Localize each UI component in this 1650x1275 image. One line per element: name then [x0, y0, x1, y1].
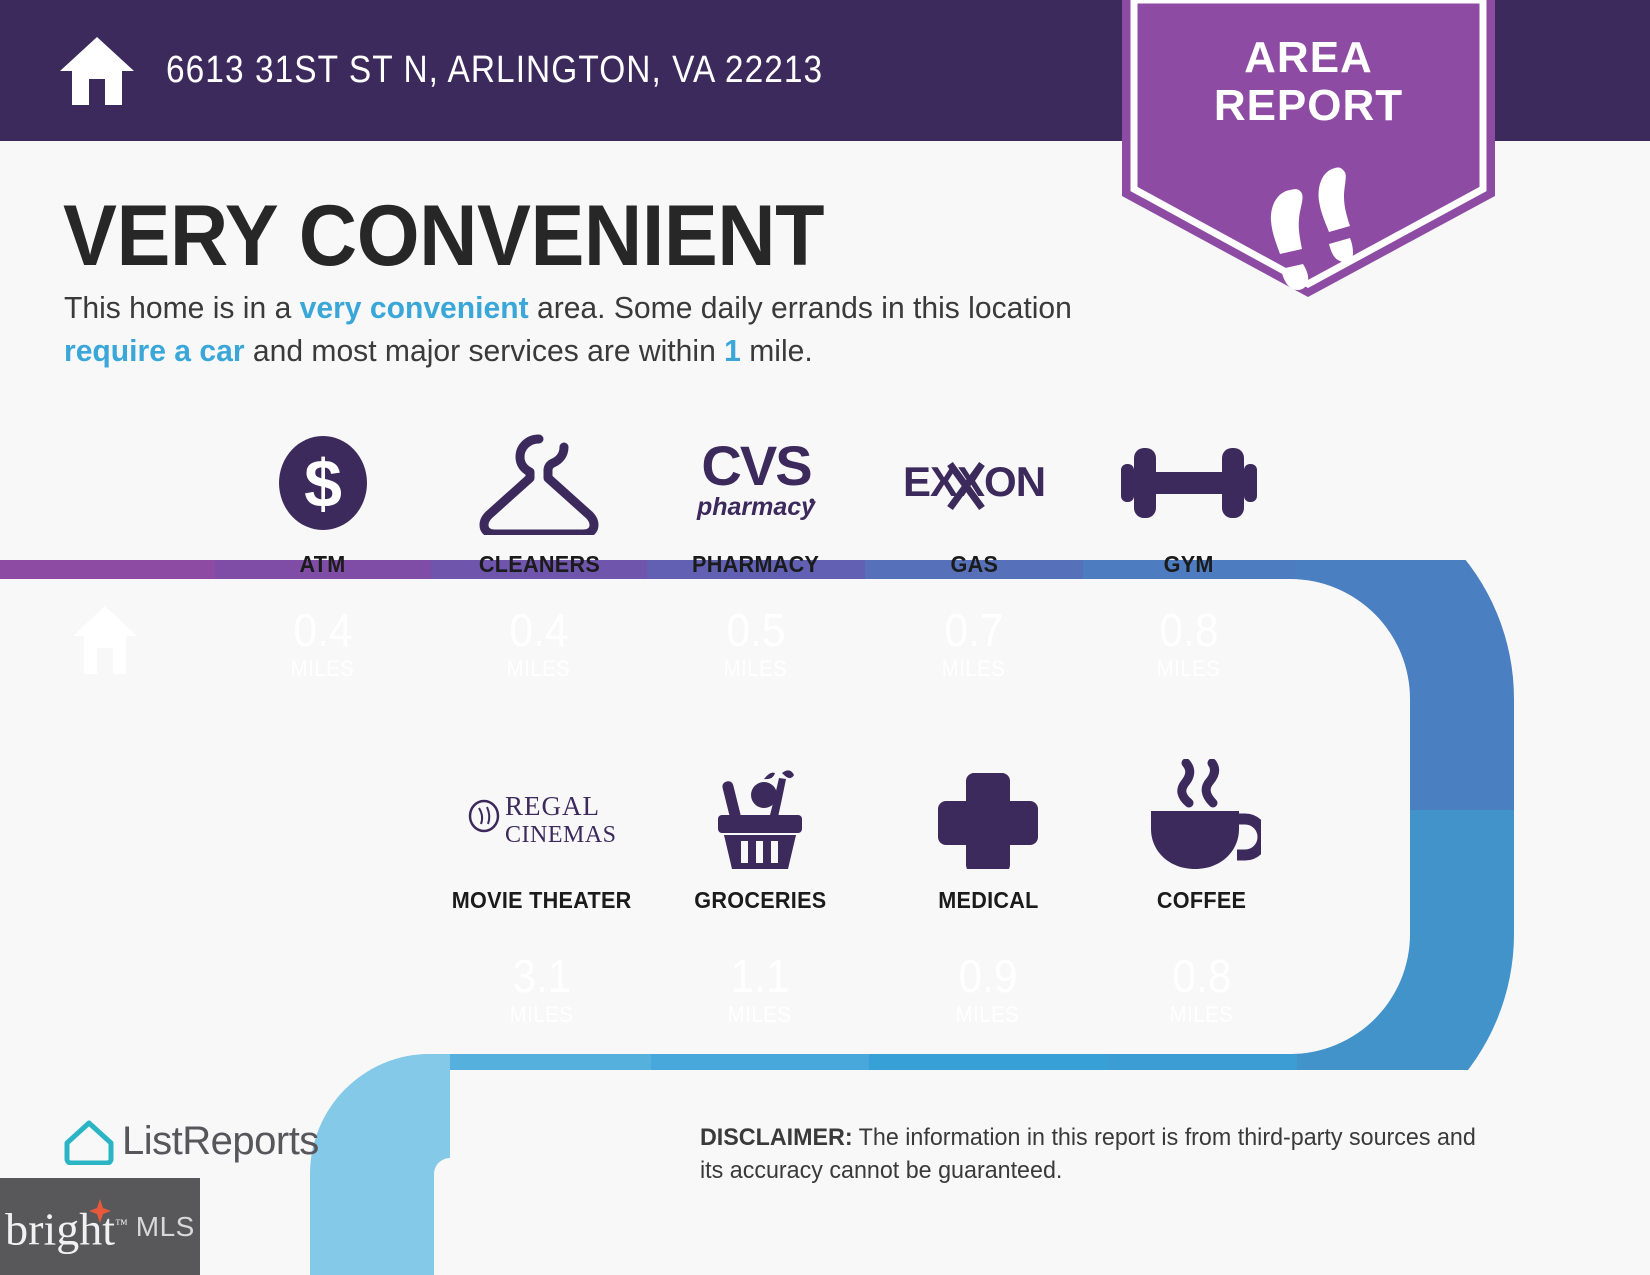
- listreports-wordmark: ListReports: [122, 1119, 319, 1164]
- amenity-medical: MEDICAL: [869, 766, 1107, 914]
- amenity-label: MEDICAL: [938, 887, 1038, 914]
- bright-mls-badge: bright™ MLS: [0, 1178, 200, 1275]
- svg-text:$: $: [304, 446, 342, 522]
- cvs-pharmacy-logo: CVS pharmacy: [681, 433, 831, 533]
- distance-unit: MILES: [942, 656, 1006, 682]
- mls-text: MLS: [136, 1211, 195, 1243]
- badge-line-2: REPORT: [1122, 82, 1495, 130]
- listreports-logo: ListReports: [62, 1117, 319, 1165]
- distance-coffee: 0.8 MILES: [1107, 925, 1297, 1055]
- svg-text:pharmacy: pharmacy: [696, 493, 816, 521]
- amenity-label: GYM: [1164, 551, 1214, 578]
- amenity-label: CLEANERS: [478, 551, 599, 578]
- ribbon-turn-lower: [1295, 810, 1650, 1070]
- distance-unit: MILES: [1157, 656, 1221, 682]
- amenity-label: GROCERIES: [694, 887, 826, 914]
- grocery-basket-icon: [706, 759, 814, 871]
- icon-box: $: [275, 430, 371, 535]
- distance-movie-theater: 3.1 MILES: [433, 925, 651, 1055]
- distance-unit: MILES: [507, 656, 571, 682]
- icon-box: [1143, 759, 1261, 871]
- disclaimer: DISCLAIMER: The information in this repo…: [700, 1121, 1495, 1187]
- distance-atm: 0.4 MILES: [215, 579, 431, 709]
- ribbon-turn-upper: [1295, 560, 1650, 810]
- amenity-gym: GYM: [1083, 430, 1295, 578]
- icon-box: [479, 430, 599, 535]
- distance-unit: MILES: [728, 1002, 792, 1028]
- ribbon-seg-corner: [250, 920, 433, 1070]
- icon-box: REGAL CINEMAS: [467, 766, 617, 871]
- icon-box: EXXON: [904, 430, 1044, 535]
- distance-medical: 0.9 MILES: [869, 925, 1107, 1055]
- disclaimer-label: DISCLAIMER:: [700, 1124, 853, 1151]
- distance-pharmacy: 0.5 MILES: [647, 579, 865, 709]
- amenity-cleaners: CLEANERS: [431, 430, 647, 578]
- medical-cross-icon: [938, 769, 1038, 869]
- icon-box: CVS pharmacy: [681, 430, 831, 535]
- distance-unit: MILES: [510, 1002, 574, 1028]
- icon-box: [938, 766, 1038, 871]
- home-icon: [72, 604, 138, 676]
- amenity-label: PHARMACY: [692, 551, 819, 578]
- distance-value: 0.8: [1173, 952, 1232, 1000]
- distance-value: 0.7: [945, 606, 1004, 654]
- amenity-label: MOVIE THEATER: [452, 887, 632, 914]
- icon-box: [1119, 430, 1259, 535]
- badge-line-1: AREA: [1122, 34, 1495, 82]
- distance-gas: 0.7 MILES: [865, 579, 1083, 709]
- listreports-house-icon: [62, 1117, 116, 1165]
- svg-text:CINEMAS: CINEMAS: [505, 822, 617, 848]
- amenity-label: ATM: [300, 551, 346, 578]
- distance-value: 0.8: [1160, 606, 1219, 654]
- dollar-circle-icon: $: [275, 435, 371, 531]
- amenity-movie-theater: REGAL CINEMAS MOVIE THEATER: [433, 766, 651, 914]
- amenity-groceries: GROCERIES: [651, 766, 869, 914]
- amenity-label: GAS: [950, 551, 998, 578]
- distance-unit: MILES: [1170, 1002, 1234, 1028]
- coffee-cup-icon: [1143, 759, 1261, 871]
- amenity-pharmacy: CVS pharmacy PHARMACY: [647, 430, 865, 578]
- amenity-coffee: COFFEE: [1107, 766, 1297, 914]
- regal-cinemas-logo: REGAL CINEMAS: [467, 786, 617, 852]
- area-report-badge: AREA REPORT: [1122, 0, 1495, 297]
- icon-box: [706, 759, 814, 871]
- badge-label: AREA REPORT: [1122, 34, 1495, 130]
- svg-text:CVS: CVS: [701, 434, 811, 497]
- amenity-gas: EXXON GAS: [865, 430, 1083, 578]
- exxon-logo: EXXON: [904, 448, 1044, 518]
- clothes-hanger-icon: [479, 431, 599, 535]
- distance-unit: MILES: [724, 656, 788, 682]
- distance-value: 0.5: [727, 606, 786, 654]
- distance-unit: MILES: [956, 1002, 1020, 1028]
- distance-groceries: 1.1 MILES: [651, 925, 869, 1055]
- distance-gym: 0.8 MILES: [1083, 579, 1295, 709]
- dumbbell-icon: [1119, 440, 1259, 526]
- distance-cleaners: 0.4 MILES: [431, 579, 647, 709]
- svg-text:REGAL: REGAL: [505, 791, 600, 821]
- distance-value: 3.1: [513, 952, 572, 1000]
- distance-value: 0.9: [959, 952, 1018, 1000]
- distance-unit: MILES: [291, 656, 355, 682]
- distance-value: 0.4: [294, 606, 353, 654]
- sparkle-icon: [89, 1199, 111, 1223]
- distance-value: 0.4: [510, 606, 569, 654]
- distance-value: 1.1: [731, 952, 790, 1000]
- amenity-atm: $ ATM: [215, 430, 431, 578]
- amenity-label: COFFEE: [1157, 887, 1246, 914]
- trademark-symbol: ™: [115, 1216, 128, 1231]
- bright-wordmark: bright™: [5, 1201, 128, 1252]
